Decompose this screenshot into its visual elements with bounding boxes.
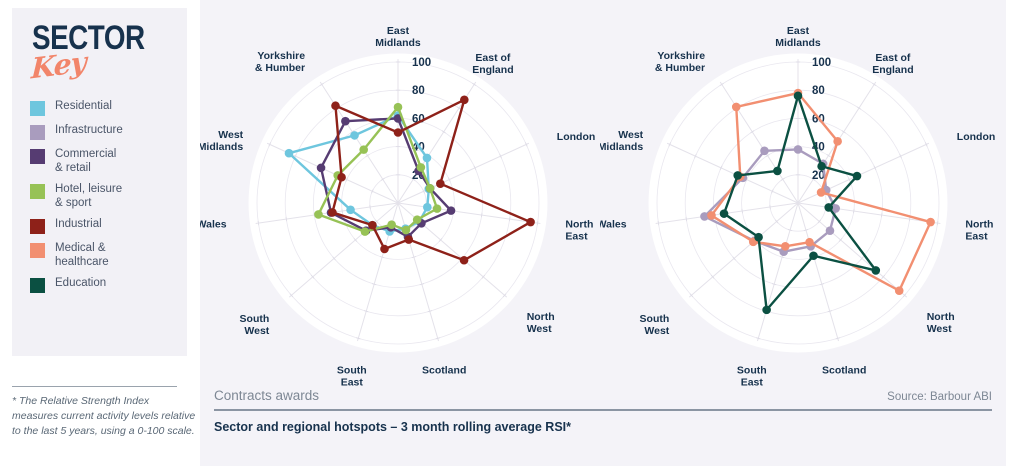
radar-data-point: [423, 154, 432, 163]
radar-data-point: [368, 221, 377, 230]
sector-legend: ResidentialInfrastructureCommercial & re…: [30, 100, 180, 301]
radar-data-point: [720, 209, 729, 218]
radar-data-point: [413, 215, 422, 224]
radar-data-point: [341, 117, 350, 126]
legend-swatch: [30, 278, 45, 293]
radar-axis-label: SouthWest: [640, 313, 670, 337]
legend-swatch: [30, 184, 45, 199]
legend-label: Hotel, leisure & sport: [55, 183, 122, 210]
legend-item: Education: [30, 277, 180, 293]
radar-axis-label: NorthWest: [927, 311, 955, 335]
radar-data-point: [314, 210, 323, 219]
radar-axis-label: Wales: [600, 218, 627, 230]
radar-axis-label: London: [957, 131, 995, 143]
legend-label: Residential: [55, 100, 112, 114]
axis-tick-label: 80: [812, 85, 825, 97]
legend-swatch: [30, 219, 45, 234]
radar-data-point: [460, 256, 469, 265]
radar-axis-label: NorthEast: [565, 218, 593, 242]
sector-key-column: SECTOR Key ResidentialInfrastructureComm…: [0, 0, 200, 466]
radar-data-point: [317, 164, 326, 173]
radar-data-point: [285, 149, 294, 158]
legend-item: Commercial & retail: [30, 148, 180, 175]
sector-key-title: SECTOR Key: [32, 22, 172, 83]
radar-data-point: [794, 145, 803, 154]
radar-data-point: [460, 96, 469, 105]
radar-data-point: [826, 226, 835, 235]
caption-label: Contracts awards: [214, 388, 319, 403]
radar-data-point: [331, 101, 340, 110]
radar-data-point: [380, 245, 389, 254]
legend-item: Medical & healthcare: [30, 242, 180, 269]
radar-axis-label: WestMidlands: [200, 129, 244, 153]
radar-data-point: [871, 266, 880, 275]
radar-chart-right-svg: 20406080100EastMidlandsEast ofEnglandLon…: [600, 0, 1003, 386]
radar-axis-label: East ofEngland: [872, 52, 913, 76]
radar-data-point: [404, 235, 413, 244]
radar-data-point: [760, 147, 769, 156]
radar-data-point: [926, 218, 935, 227]
radar-data-point: [733, 171, 742, 180]
radar-data-point: [346, 206, 355, 215]
axis-tick-label: 100: [412, 57, 431, 69]
radar-data-point: [423, 203, 432, 212]
radar-axis-label: NorthEast: [965, 218, 993, 242]
radar-data-point: [707, 211, 716, 220]
radar-axis-label: Scotland: [822, 365, 866, 377]
radar-data-point: [447, 206, 456, 215]
legend-item: Residential: [30, 100, 180, 116]
radar-chart-right: 20406080100EastMidlandsEast ofEnglandLon…: [600, 0, 1003, 386]
radar-axis-label: East ofEngland: [472, 52, 513, 76]
radar-axis-label: SouthWest: [240, 313, 270, 337]
radar-data-point: [824, 203, 833, 212]
radar-data-point: [794, 92, 803, 101]
radar-data-point: [394, 128, 403, 137]
chart-caption: Contracts awards Source: Barbour ABI Sec…: [214, 388, 992, 460]
axis-tick-label: 80: [412, 85, 425, 97]
radar-axis-label: Yorkshire& Humber: [655, 50, 705, 74]
legend-label: Infrastructure: [55, 124, 123, 138]
legend-item: Industrial: [30, 218, 180, 234]
radar-chart-left-svg: 20406080100EastMidlandsEast ofEnglandLon…: [200, 0, 603, 386]
radar-data-point: [833, 137, 842, 146]
caption-header-row: Contracts awards Source: Barbour ABI: [214, 388, 992, 409]
charts-panel: 20406080100EastMidlandsEast ofEnglandLon…: [200, 0, 1006, 466]
radar-data-point: [402, 226, 411, 235]
legend-swatch: [30, 243, 45, 258]
radar-data-point: [817, 162, 826, 171]
radar-axis-label: Scotland: [422, 365, 466, 377]
radar-axis-label: Yorkshire& Humber: [255, 50, 305, 74]
legend-item: Hotel, leisure & sport: [30, 183, 180, 210]
radar-axis-label: Wales: [200, 218, 227, 230]
legend-swatch: [30, 149, 45, 164]
legend-label: Industrial: [55, 218, 102, 232]
radar-data-point: [426, 184, 435, 193]
caption-title: Sector and regional hotspots – 3 month r…: [214, 420, 992, 434]
radar-charts-row: 20406080100EastMidlandsEast ofEnglandLon…: [200, 0, 1006, 386]
radar-data-point: [817, 188, 826, 197]
caption-divider: [214, 409, 992, 411]
axis-tick-label: 100: [812, 57, 831, 69]
legend-swatch: [30, 101, 45, 116]
radar-data-point: [762, 306, 771, 315]
radar-data-point: [853, 172, 862, 181]
legend-label: Commercial & retail: [55, 148, 116, 175]
radar-data-point: [781, 242, 790, 251]
radar-data-point: [805, 238, 814, 247]
footnote-text: * The Relative Strength Index measures c…: [12, 394, 197, 439]
radar-axis-label: EastMidlands: [375, 25, 421, 49]
radar-data-point: [328, 208, 337, 217]
radar-data-point: [359, 145, 368, 154]
radar-data-point: [387, 220, 396, 229]
legend-swatch: [30, 125, 45, 140]
legend-item: Infrastructure: [30, 124, 180, 140]
radar-data-point: [754, 233, 763, 242]
radar-data-point: [361, 227, 370, 236]
radar-axis-label: NorthWest: [527, 311, 555, 335]
radar-data-point: [394, 103, 403, 112]
radar-data-point: [895, 286, 904, 295]
radar-data-point: [417, 163, 426, 172]
caption-source: Source: Barbour ABI: [887, 391, 992, 403]
radar-data-point: [337, 173, 346, 182]
radar-data-point: [732, 103, 741, 112]
legend-label: Medical & healthcare: [55, 242, 109, 269]
radar-axis-label: SouthEast: [737, 365, 767, 386]
radar-data-point: [436, 179, 445, 188]
chart-page: SECTOR Key ResidentialInfrastructureComm…: [0, 0, 1024, 466]
radar-axis-label: EastMidlands: [775, 25, 821, 49]
legend-label: Education: [55, 277, 106, 291]
radar-axis-label: WestMidlands: [600, 129, 644, 153]
radar-data-point: [526, 218, 535, 227]
radar-data-point: [773, 167, 782, 176]
radar-data-point: [809, 251, 818, 260]
radar-axis-label: London: [557, 131, 595, 143]
footnote-divider: [12, 386, 177, 387]
radar-chart-left: 20406080100EastMidlandsEast ofEnglandLon…: [200, 0, 603, 386]
radar-data-point: [433, 204, 442, 213]
radar-data-point: [350, 131, 359, 140]
radar-axis-label: SouthEast: [337, 365, 367, 386]
